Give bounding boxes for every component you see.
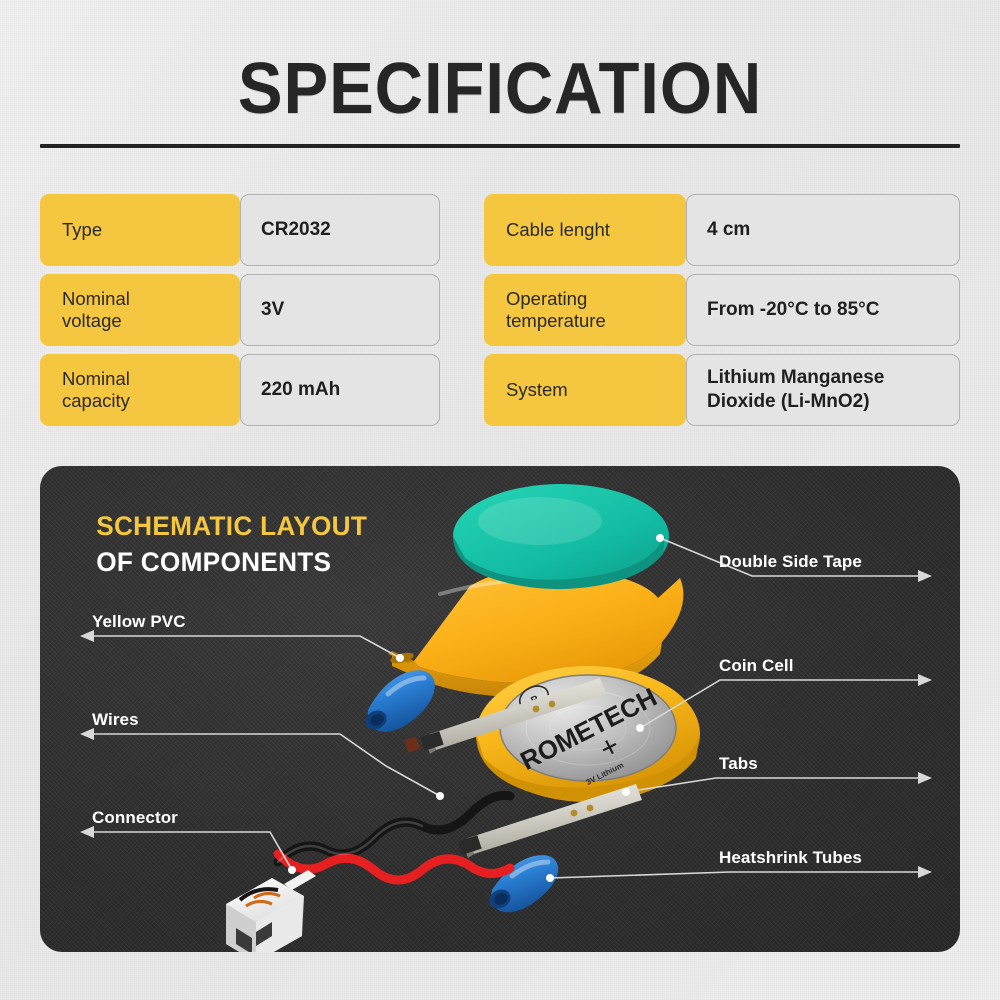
spec-label-system: System: [484, 354, 686, 426]
schematic-layout-panel: SCHEMATIC LAYOUT OF COMPONENTS: [40, 466, 960, 952]
callout-connector: Connector: [92, 808, 178, 828]
title-divider: [40, 144, 960, 148]
spec-value-nominal-capacity: 220 mAh: [240, 354, 440, 426]
callout-heatshrink-tubes: Heatshrink Tubes: [719, 848, 862, 868]
spec-label-nominal-voltage: Nominalvoltage: [40, 274, 240, 346]
spec-value-cable-length: 4 cm: [686, 194, 960, 266]
infographic-page: SPECIFICATION Type CR2032 Nominalvoltage…: [0, 0, 1000, 1000]
spec-value-operating-temp: From -20°C to 85°C: [686, 274, 960, 346]
spec-value-system: Lithium ManganeseDioxide (Li-MnO2): [686, 354, 960, 426]
callout-tabs: Tabs: [719, 754, 758, 774]
callout-wires: Wires: [92, 710, 139, 730]
spec-label-cable-length: Cable lenght: [484, 194, 686, 266]
callout-double-side-tape: Double Side Tape: [719, 552, 862, 572]
spec-label-operating-temp: Operatingtemperature: [484, 274, 686, 346]
specification-table: Type CR2032 Nominalvoltage 3V Nominalcap…: [40, 194, 960, 430]
callout-leader-lines: [40, 466, 960, 952]
spec-value-type: CR2032: [240, 194, 440, 266]
callout-yellow-pvc: Yellow PVC: [92, 612, 186, 632]
spec-value-nominal-voltage: 3V: [240, 274, 440, 346]
page-title: SPECIFICATION: [35, 48, 965, 130]
spec-label-type: Type: [40, 194, 240, 266]
callout-coin-cell: Coin Cell: [719, 656, 794, 676]
spec-label-nominal-capacity: Nominalcapacity: [40, 354, 240, 426]
